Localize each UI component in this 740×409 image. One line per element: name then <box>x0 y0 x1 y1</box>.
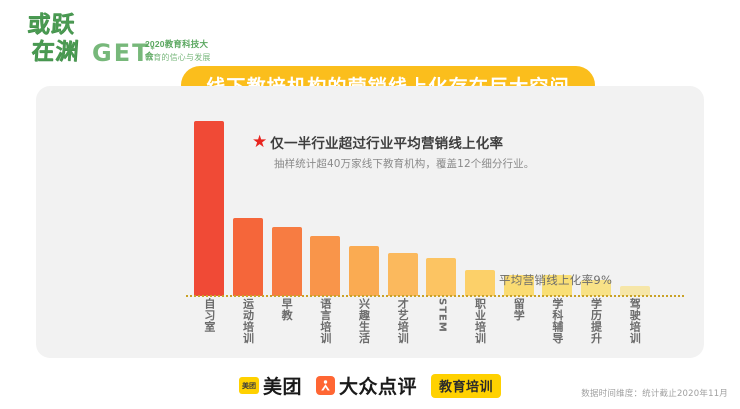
x-axis-label-0: 自习室 <box>204 298 215 356</box>
x-label-slot: 运动培训 <box>229 298 268 356</box>
logo-line-1: 或跃 <box>26 12 114 39</box>
bar[interactable] <box>349 246 379 296</box>
bar-slot <box>306 108 345 296</box>
x-label-slot: 职业培训 <box>461 298 500 356</box>
x-label-slot: 驾驶培训 <box>615 298 654 356</box>
x-label-slot: 才艺培训 <box>383 298 422 356</box>
bar-slot <box>345 108 384 296</box>
bar[interactable] <box>272 227 302 296</box>
logo-get-text: GET <box>92 39 150 67</box>
meituan-brand-name: 美团 <box>263 372 302 399</box>
x-axis-label-8: 留学 <box>513 298 524 356</box>
bar[interactable] <box>233 218 263 296</box>
bar[interactable] <box>310 236 340 296</box>
x-axis-labels: 自习室运动培训早教语言培训兴趣生活才艺培训STEM职业培训留学学科辅导学历提升驾… <box>190 298 654 356</box>
brand-logo: 或跃 在渊 GET* 2020教育科技大会 教育的信心与发展 <box>22 12 212 72</box>
x-axis-label-7: 职业培训 <box>475 298 486 356</box>
x-label-slot: 早教 <box>267 298 306 356</box>
bar-slot <box>538 108 577 296</box>
x-axis-label-3: 语言培训 <box>320 298 331 356</box>
bar[interactable] <box>426 258 456 296</box>
x-axis-label-4: 兴趣生活 <box>359 298 370 356</box>
bar-slot <box>461 108 500 296</box>
bar-slot <box>190 108 229 296</box>
bar-slot <box>267 108 306 296</box>
logo-tagline-secondary: 教育的信心与发展 <box>145 52 211 63</box>
bar[interactable] <box>194 121 224 296</box>
bar-slot <box>383 108 422 296</box>
x-axis-label-5: 才艺培训 <box>397 298 408 356</box>
x-axis-label-6: STEM <box>436 298 446 356</box>
average-reference-line <box>186 295 684 297</box>
meituan-logo-icon: 美团 <box>239 377 259 394</box>
dianping-person-icon <box>316 376 335 395</box>
bar-slot <box>229 108 268 296</box>
x-axis-label-1: 运动培训 <box>243 298 254 356</box>
x-axis-label-10: 学历提升 <box>591 298 602 356</box>
average-reference-label: 平均营销线上化率9% <box>499 272 612 288</box>
x-label-slot: STEM <box>422 298 461 356</box>
data-source-footnote: 数据时间维度：统计截止2020年11月 <box>581 387 728 399</box>
bar[interactable] <box>465 270 495 296</box>
x-label-slot: 学科辅导 <box>538 298 577 356</box>
bar-series <box>190 108 654 296</box>
x-axis-label-2: 早教 <box>281 298 292 356</box>
x-label-slot: 语言培训 <box>306 298 345 356</box>
x-label-slot: 兴趣生活 <box>345 298 384 356</box>
bar-slot <box>615 108 654 296</box>
category-badge: 教育培训 <box>431 374 501 398</box>
bar[interactable] <box>388 253 418 296</box>
bar-slot <box>499 108 538 296</box>
chart-card: ★ 仅一半行业超过行业平均营销线上化率 抽样统计超40万家线下教育机构，覆盖12… <box>36 86 704 358</box>
x-axis-label-11: 驾驶培训 <box>629 298 640 356</box>
x-label-slot: 学历提升 <box>577 298 616 356</box>
bar-slot <box>577 108 616 296</box>
x-label-slot: 自习室 <box>190 298 229 356</box>
x-axis-label-9: 学科辅导 <box>552 298 563 356</box>
dianping-brand-name: 大众点评 <box>339 372 417 399</box>
bar-chart-plot-area <box>190 108 690 296</box>
x-label-slot: 留学 <box>499 298 538 356</box>
bar-slot <box>422 108 461 296</box>
